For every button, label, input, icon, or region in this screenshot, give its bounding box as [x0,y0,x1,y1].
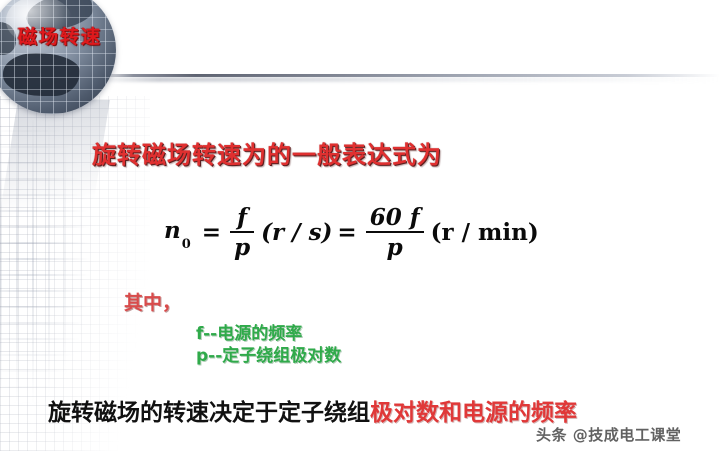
background-map-texture [0,120,105,420]
formula-fraction-2: 60 f p [366,206,424,259]
formula-unit-1: (r / s) [261,219,332,246]
formula-equals-1: = [202,219,221,246]
formula-lhs-subscript: 0 [182,237,191,252]
speed-formula: n0 = f p (r / s) = 60 f p (r / min) [164,206,539,259]
background-streak [0,100,110,250]
formula-fraction-2-denominator: p [383,233,407,259]
legend-item-f: f--电源的频率 [196,323,341,345]
formula-unit-2: (r / min) [431,219,539,246]
conclusion-red-text: 极对数和电源的频率 [370,400,577,426]
legend-item-p: p--定子绕组极对数 [196,345,341,367]
header-divider-shadow [96,77,720,82]
slide-title: 磁场转速 [18,22,102,49]
formula-lhs: n0 [164,217,197,248]
formula-fraction-2-numerator: 60 f [366,206,424,231]
watermark: 头条 @技成电工课堂 [536,424,681,445]
symbol-legend: f--电源的频率 p--定子绕组极对数 [196,323,341,368]
formula-fraction-1-denominator: p [230,233,254,259]
section-heading: 旋转磁场转速为的一般表达式为 [92,135,442,170]
globe-icon [0,0,116,114]
globe-sphere [0,0,116,114]
formula-fraction-1-numerator: f [233,206,251,231]
formula-fraction-1: f p [230,206,254,259]
slide-canvas: 磁场转速 旋转磁场转速为的一般表达式为 n0 = f p (r / s) = 6… [0,0,720,451]
conclusion-black-text: 旋转磁场的转速决定于定子绕组 [48,400,370,426]
where-label: 其中， [124,288,181,315]
conclusion-line: 旋转磁场的转速决定于定子绕组极对数和电源的频率 [48,393,577,427]
formula-equals-2: = [337,219,356,246]
